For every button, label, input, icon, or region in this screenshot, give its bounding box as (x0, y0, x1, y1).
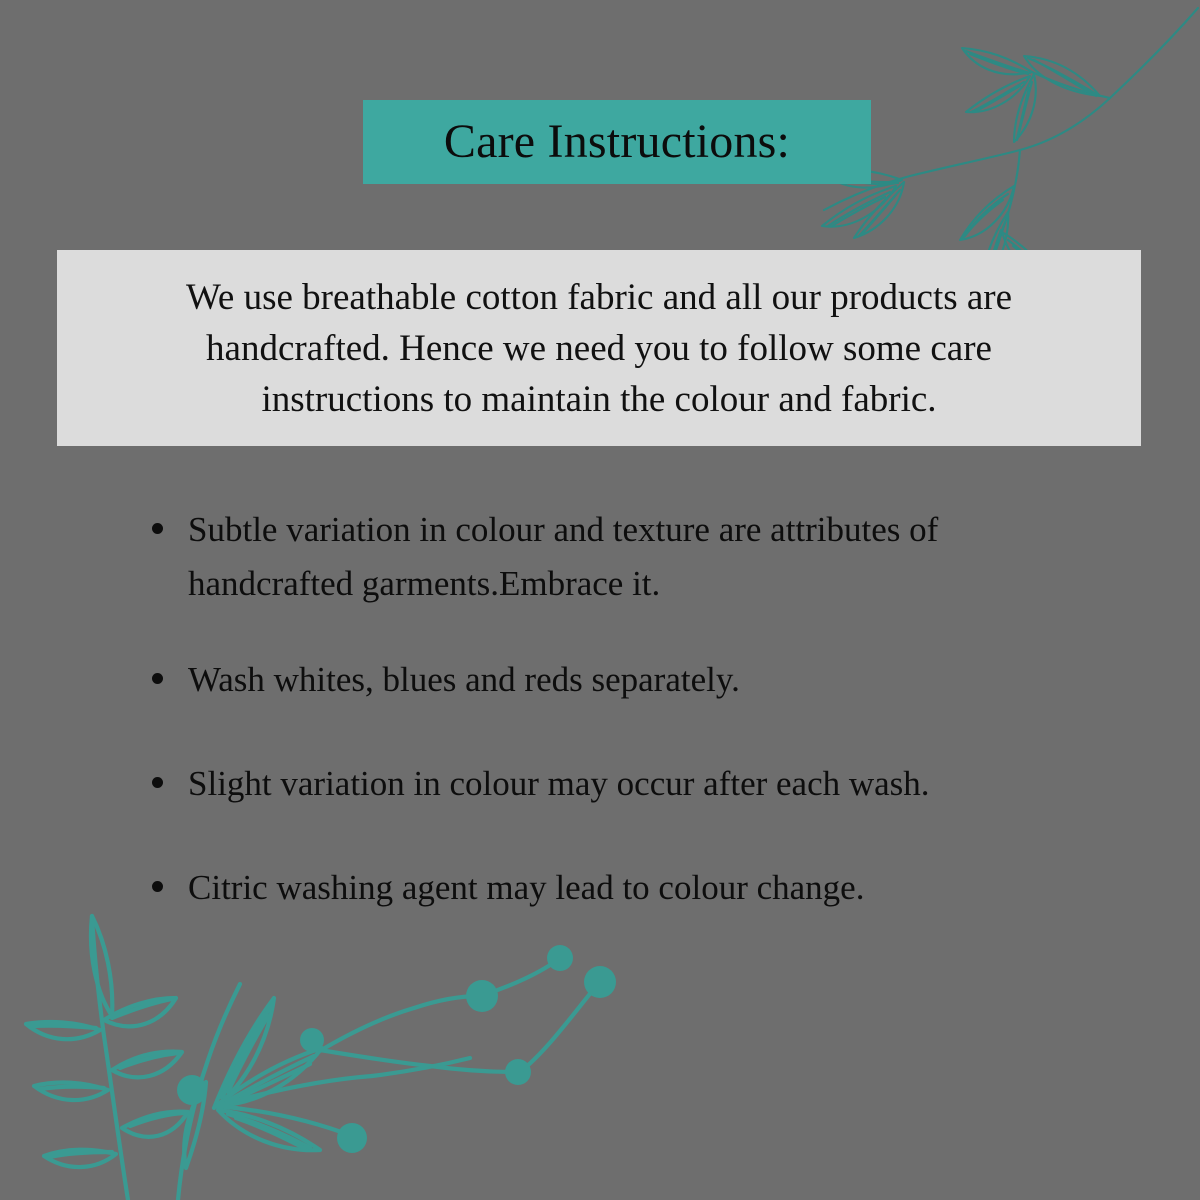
intro-line: We use breathable cotton fabric and all … (186, 272, 1012, 323)
leafy-sprig-with-berries-decoration (0, 900, 640, 1200)
bullet-dot-icon (152, 777, 163, 788)
list-item-text: Subtle variation in colour and texture a… (188, 503, 1088, 611)
list-item-text: Slight variation in colour may occur aft… (188, 757, 1148, 811)
intro-text-block: We use breathable cotton fabric and all … (57, 250, 1141, 446)
list-item-text: Wash whites, blues and reds separately. (188, 653, 1178, 707)
page-title: Care Instructions: (363, 100, 871, 184)
list-item: Wash whites, blues and reds separately. (150, 653, 1178, 707)
care-bullet-list: Subtle variation in colour and texture a… (150, 503, 1140, 915)
bullet-dot-icon (152, 881, 163, 892)
list-item: Slight variation in colour may occur aft… (150, 757, 1148, 811)
bullet-dot-icon (152, 523, 163, 534)
bullet-dot-icon (152, 673, 163, 684)
list-item-text: Citric washing agent may lead to colour … (188, 861, 988, 915)
list-item: Citric washing agent may lead to colour … (150, 861, 988, 915)
intro-line: instructions to maintain the colour and … (261, 374, 936, 425)
care-instructions-poster: Care Instructions: We use breathable cot… (0, 0, 1200, 1200)
intro-line: handcrafted. Hence we need you to follow… (206, 323, 992, 374)
list-item: Subtle variation in colour and texture a… (150, 503, 1088, 611)
